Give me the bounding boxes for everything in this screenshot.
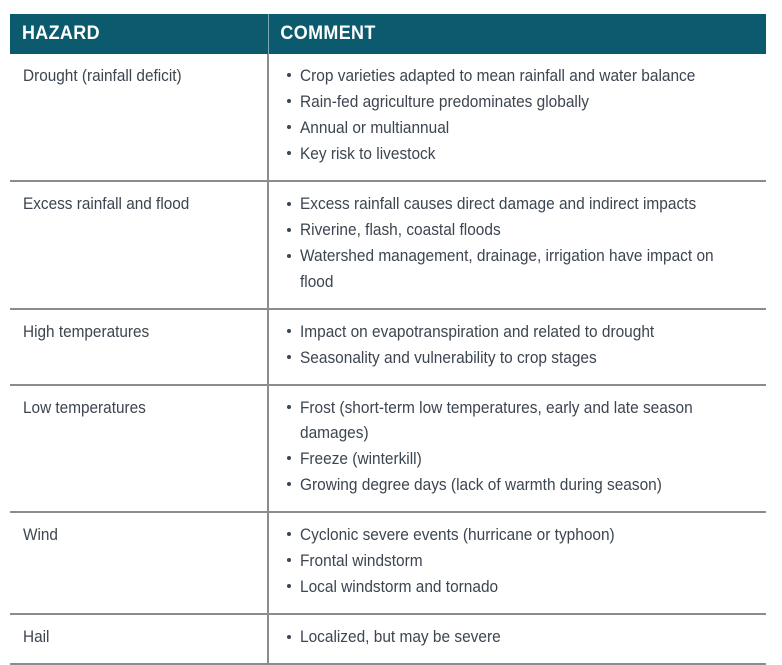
comment-bullet-item: Freeze (winterkill) [287, 447, 760, 472]
comment-bullet-text: Cyclonic severe events (hurricane or typ… [300, 523, 730, 548]
column-header-hazard-label: HAZARD [22, 22, 100, 44]
hazard-cell: Hail [10, 614, 268, 664]
hazard-label: Excess rainfall and flood [23, 192, 242, 217]
comment-bullet-item: Localized, but may be severe [287, 625, 760, 650]
comment-cell: Frost (short-term low temperatures, earl… [268, 385, 766, 512]
hazard-cell: Wind [10, 512, 268, 614]
table-row: Low temperaturesFrost (short-term low te… [10, 385, 766, 512]
bullet-dot-icon [287, 482, 291, 486]
bullet-dot-icon [287, 254, 291, 258]
table-row: Drought (rainfall deficit)Crop varieties… [10, 54, 766, 181]
comment-bullet-text: Local windstorm and tornado [300, 575, 730, 600]
bullet-dot-icon [287, 532, 291, 536]
hazard-label: Drought (rainfall deficit) [23, 64, 242, 89]
table-row: Excess rainfall and floodExcess rainfall… [10, 181, 766, 308]
bullet-dot-icon [287, 73, 291, 77]
bullet-dot-icon [287, 125, 291, 129]
table-row: High temperaturesImpact on evapotranspir… [10, 309, 766, 385]
comment-bullet-text: Riverine, flash, coastal floods [300, 218, 730, 243]
hazard-cell: High temperatures [10, 309, 268, 385]
table-header: HAZARD COMMENT [10, 14, 766, 54]
comment-bullet-item: Frontal windstorm [287, 549, 760, 574]
comment-bullet-list: Localized, but may be severe [287, 625, 760, 650]
comment-bullet-text: Freeze (winterkill) [300, 447, 730, 472]
table-body: Drought (rainfall deficit)Crop varieties… [10, 54, 766, 664]
comment-bullet-text: Annual or multiannual [300, 116, 730, 141]
table-row: HailLocalized, but may be severe [10, 614, 766, 664]
comment-bullet-item: Impact on evapotranspiration and related… [287, 320, 760, 345]
bullet-dot-icon [287, 329, 291, 333]
comment-bullet-item: Annual or multiannual [287, 116, 760, 141]
comment-bullet-list: Excess rainfall causes direct damage and… [287, 192, 760, 294]
bullet-dot-icon [287, 202, 291, 206]
comment-bullet-item: Watershed management, drainage, irrigati… [287, 244, 760, 294]
comment-bullet-text: Impact on evapotranspiration and related… [300, 320, 730, 345]
bullet-dot-icon [287, 355, 291, 359]
bullet-dot-icon [287, 99, 291, 103]
comment-bullet-item: Riverine, flash, coastal floods [287, 218, 760, 243]
comment-bullet-item: Cyclonic severe events (hurricane or typ… [287, 523, 760, 548]
comment-bullet-text: Watershed management, drainage, irrigati… [300, 244, 730, 294]
column-header-hazard: HAZARD [10, 14, 247, 54]
comment-bullet-text: Growing degree days (lack of warmth duri… [300, 473, 730, 498]
hazard-cell: Low temperatures [10, 385, 268, 512]
comment-bullet-text: Frost (short-term low temperatures, earl… [300, 396, 730, 446]
column-header-comment-label: COMMENT [280, 22, 375, 44]
hazard-label: Hail [23, 625, 242, 650]
comment-cell: Cyclonic severe events (hurricane or typ… [268, 512, 766, 614]
comment-bullet-item: Frost (short-term low temperatures, earl… [287, 396, 760, 446]
comment-cell: Crop varieties adapted to mean rainfall … [268, 54, 766, 181]
comment-bullet-list: Cyclonic severe events (hurricane or typ… [287, 523, 760, 600]
table-row: WindCyclonic severe events (hurricane or… [10, 512, 766, 614]
bullet-dot-icon [287, 405, 291, 409]
comment-bullet-text: Localized, but may be severe [300, 625, 730, 650]
hazard-cell: Drought (rainfall deficit) [10, 54, 268, 181]
hazard-label: Low temperatures [23, 396, 242, 421]
column-header-comment: COMMENT [268, 14, 726, 54]
comment-cell: Impact on evapotranspiration and related… [268, 309, 766, 385]
hazard-comment-table: HAZARD COMMENT Drought (rainfall deficit… [10, 14, 766, 665]
comment-bullet-list: Impact on evapotranspiration and related… [287, 320, 760, 371]
comment-bullet-list: Crop varieties adapted to mean rainfall … [287, 64, 760, 167]
comment-bullet-item: Crop varieties adapted to mean rainfall … [287, 64, 760, 89]
comment-bullet-text: Rain-fed agriculture predominates global… [300, 90, 730, 115]
comment-bullet-text: Crop varieties adapted to mean rainfall … [300, 64, 730, 89]
comment-bullet-item: Rain-fed agriculture predominates global… [287, 90, 760, 115]
bullet-dot-icon [287, 558, 291, 562]
comment-bullet-text: Frontal windstorm [300, 549, 730, 574]
comment-cell: Excess rainfall causes direct damage and… [268, 181, 766, 308]
comment-bullet-text: Key risk to livestock [300, 142, 730, 167]
comment-bullet-item: Local windstorm and tornado [287, 575, 760, 600]
bullet-dot-icon [287, 228, 291, 232]
comment-bullet-text: Seasonality and vulnerability to crop st… [300, 346, 730, 371]
hazard-label: High temperatures [23, 320, 242, 345]
bullet-dot-icon [287, 456, 291, 460]
comment-bullet-item: Growing degree days (lack of warmth duri… [287, 473, 760, 498]
hazard-comment-table-container: HAZARD COMMENT Drought (rainfall deficit… [10, 14, 766, 665]
bullet-dot-icon [287, 151, 291, 155]
hazard-cell: Excess rainfall and flood [10, 181, 268, 308]
comment-bullet-item: Seasonality and vulnerability to crop st… [287, 346, 760, 371]
hazard-label: Wind [23, 523, 242, 548]
bullet-dot-icon [287, 584, 291, 588]
bullet-dot-icon [287, 635, 291, 639]
comment-bullet-list: Frost (short-term low temperatures, earl… [287, 396, 760, 498]
comment-bullet-item: Key risk to livestock [287, 142, 760, 167]
comment-bullet-text: Excess rainfall causes direct damage and… [300, 192, 730, 217]
comment-cell: Localized, but may be severe [268, 614, 766, 664]
comment-bullet-item: Excess rainfall causes direct damage and… [287, 192, 760, 217]
header-row: HAZARD COMMENT [10, 14, 766, 54]
